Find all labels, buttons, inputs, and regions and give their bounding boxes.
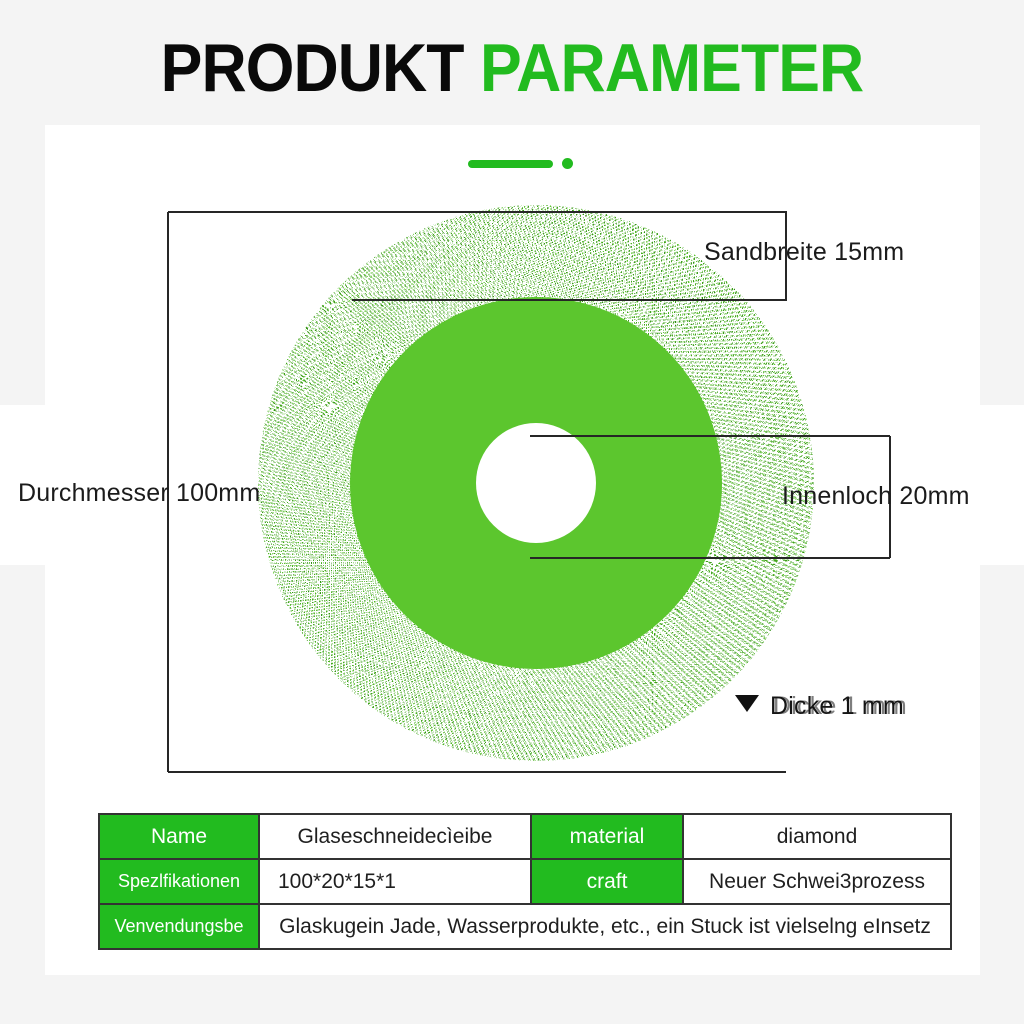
divider-bar bbox=[468, 160, 553, 168]
spec-key-craft: craft bbox=[531, 859, 683, 904]
callout-label-durchmesser: Durchmesser 100mm bbox=[18, 479, 260, 508]
spec-key-verwendung: Venvendungsbe bbox=[99, 904, 259, 949]
title-word-produkt: PRODUKT bbox=[161, 30, 464, 106]
spec-value-verwendung: Glaskugein Jade, Wasserprodukte, etc., e… bbox=[259, 904, 951, 949]
callout-label-innenloch: Innenloch 20mm bbox=[782, 482, 970, 511]
page-title: PRODUKT PARAMETER bbox=[41, 34, 983, 102]
specification-table: Name Glaseschneidecìeibe material diamon… bbox=[98, 813, 952, 950]
spec-value-spezifikationen: 100*20*15*1 bbox=[259, 859, 531, 904]
spec-value-craft: Neuer Schwei3prozess bbox=[683, 859, 951, 904]
title-word-parameter: PARAMETER bbox=[480, 30, 863, 106]
table-row: Spezlfikationen 100*20*15*1 craft Neuer … bbox=[99, 859, 951, 904]
disc-center-hole bbox=[476, 423, 596, 543]
divider-dot bbox=[562, 158, 573, 169]
spec-value-name: Glaseschneidecìeibe bbox=[259, 814, 531, 859]
green-bar-dot-divider-icon bbox=[468, 158, 573, 169]
table-row: Venvendungsbe Glaskugein Jade, Wasserpro… bbox=[99, 904, 951, 949]
spec-key-material: material bbox=[531, 814, 683, 859]
spec-key-name: Name bbox=[99, 814, 259, 859]
spec-key-spezifikationen: Spezlfikationen bbox=[99, 859, 259, 904]
cutting-disc-illustration bbox=[258, 205, 814, 761]
table-row: Name Glaseschneidecìeibe material diamon… bbox=[99, 814, 951, 859]
callout-label-dicke: Dicke 1 mm bbox=[770, 692, 904, 721]
page-root: PRODUKT PARAMETER Sandbrei bbox=[0, 0, 1024, 1024]
callout-label-sandbreite: Sandbreite 15mm bbox=[704, 238, 904, 267]
spec-value-material: diamond bbox=[683, 814, 951, 859]
